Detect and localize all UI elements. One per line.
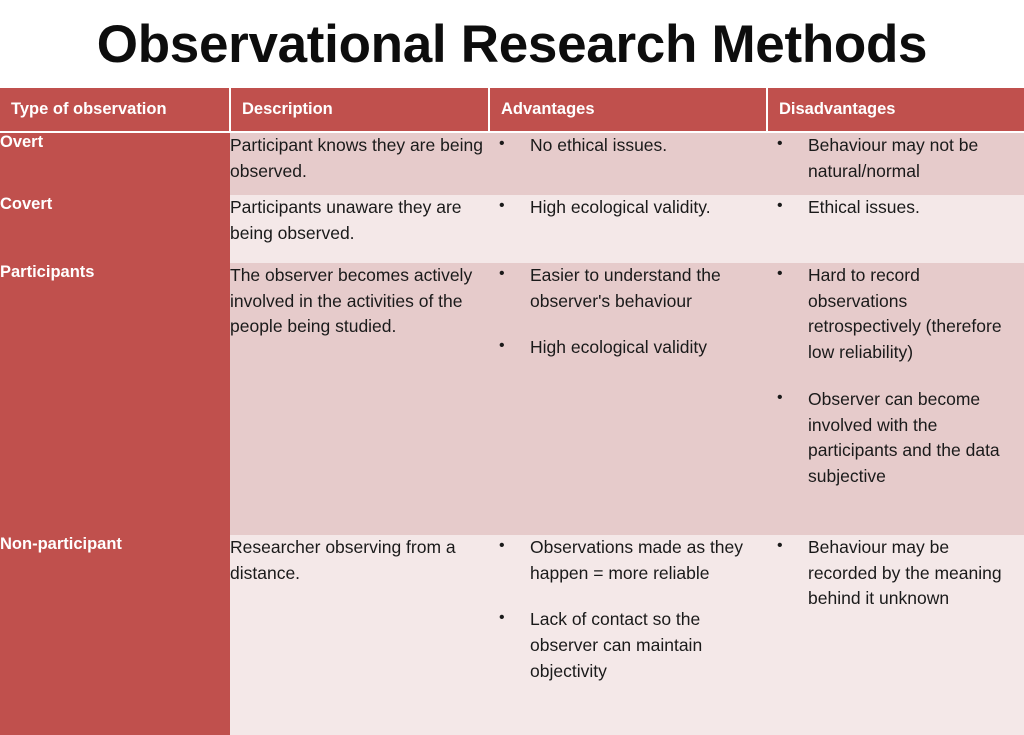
row-description: Participants unaware they are being obse… [230,195,489,263]
column-header-description: Description [230,88,489,132]
row-advantages: Easier to understand the observer's beha… [489,263,767,535]
table-row: Participants The observer becomes active… [0,263,1024,535]
observation-methods-table: Type of observation Description Advantag… [0,88,1024,735]
page-title: Observational Research Methods [0,6,1024,84]
row-advantages: High ecological validity. [489,195,767,263]
slide: Observational Research Methods Type of o… [0,0,1024,734]
list-item: Observer can become involved with the pa… [767,387,1018,490]
list-item: Easier to understand the observer's beha… [489,263,761,314]
table-row: Overt Participant knows they are being o… [0,132,1024,195]
column-header-advantages: Advantages [489,88,767,132]
table-row: Non-participant Researcher observing fro… [0,535,1024,735]
list-item: Observations made as they happen = more … [489,535,761,586]
row-disadvantages: Ethical issues. [767,195,1024,263]
list-item: Ethical issues. [767,195,1018,221]
row-type-label: Non-participant [0,535,230,735]
table-row: Covert Participants unaware they are bei… [0,195,1024,263]
column-header-disadvantages: Disadvantages [767,88,1024,132]
row-description: Participant knows they are being observe… [230,132,489,195]
list-item: Behaviour may not be natural/normal [767,133,1018,184]
column-header-type: Type of observation [0,88,230,132]
row-advantages: No ethical issues. [489,132,767,195]
row-type-label: Covert [0,195,230,263]
row-description: The observer becomes actively involved i… [230,263,489,535]
row-disadvantages: Behaviour may not be natural/normal [767,132,1024,195]
row-disadvantages: Behaviour may be recorded by the meaning… [767,535,1024,735]
row-description: Researcher observing from a distance. [230,535,489,735]
list-item: No ethical issues. [489,133,761,159]
list-item: High ecological validity. [489,195,761,221]
row-type-label: Participants [0,263,230,535]
list-item: Hard to record observations retrospectiv… [767,263,1018,366]
list-item: Lack of contact so the observer can main… [489,607,761,684]
row-advantages: Observations made as they happen = more … [489,535,767,735]
row-disadvantages: Hard to record observations retrospectiv… [767,263,1024,535]
list-item: High ecological validity [489,335,761,361]
row-type-label: Overt [0,132,230,195]
table-body: Overt Participant knows they are being o… [0,132,1024,735]
table-header-row: Type of observation Description Advantag… [0,88,1024,132]
list-item: Behaviour may be recorded by the meaning… [767,535,1018,612]
